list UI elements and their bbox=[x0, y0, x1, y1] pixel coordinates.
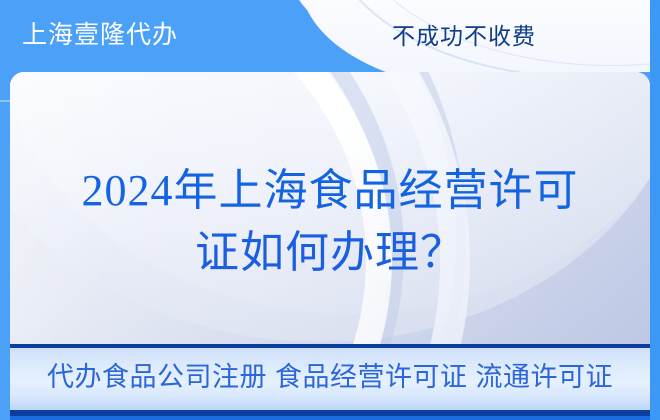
header-tagline: 不成功不收费 bbox=[392, 19, 536, 53]
left-blue-rail bbox=[0, 0, 10, 420]
footer-keywords: 代办食品公司注册 食品经营许可证 流通许可证 bbox=[10, 358, 650, 396]
poster-canvas: 上海壹隆代办 不成功不收费 2024年上海食品经营许可 证如何办理？ 代办食品公… bbox=[0, 0, 660, 420]
headline-block: 2024年上海食品经营许可 证如何办理？ bbox=[10, 160, 650, 284]
left-rail-notch bbox=[0, 100, 10, 102]
headline-line-2: 证如何办理？ bbox=[10, 222, 650, 284]
headline-line-1: 2024年上海食品经营许可 bbox=[10, 160, 650, 222]
footer-rule-blue bbox=[0, 416, 660, 420]
poster-header: 上海壹隆代办 不成功不收费 bbox=[0, 0, 660, 72]
brand-name: 上海壹隆代办 bbox=[22, 18, 178, 52]
footer-keyword-bar: 代办食品公司注册 食品经营许可证 流通许可证 bbox=[10, 344, 650, 410]
main-panel: 2024年上海食品经营许可 证如何办理？ bbox=[10, 72, 650, 344]
right-blue-rail bbox=[650, 0, 660, 420]
